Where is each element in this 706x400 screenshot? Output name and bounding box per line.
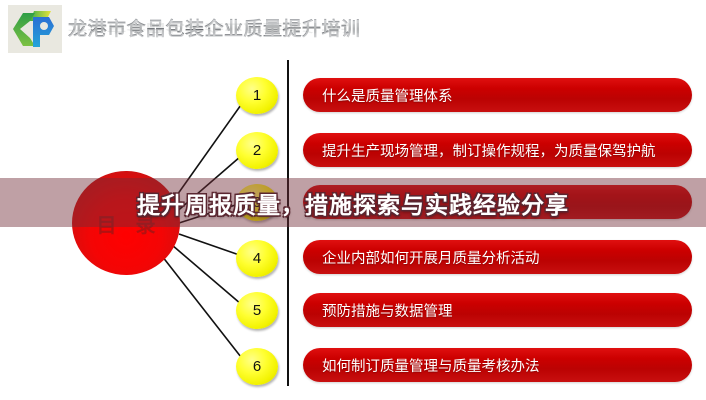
item-bar-label: 什么是质量管理体系 xyxy=(322,78,453,112)
item-bar[interactable]: 如何制订质量管理与质量考核办法 xyxy=(303,348,692,382)
item-bar[interactable]: 提升生产现场管理，制订操作规程，为质量保驾护航 xyxy=(303,133,692,167)
item-bar-label: 提升生产现场管理，制订操作规程，为质量保驾护航 xyxy=(322,133,656,167)
page-title: 龙港市食品包装企业质量提升培训 xyxy=(68,14,361,41)
item-bar[interactable]: 企业内部如何开展月质量分析活动 xyxy=(303,240,692,274)
item-number-label: 6 xyxy=(236,348,278,385)
item-number-badge[interactable]: 4 xyxy=(236,240,278,277)
item-bar[interactable]: 预防措施与数据管理 xyxy=(303,293,692,327)
item-number-badge[interactable]: 2 xyxy=(236,132,278,169)
item-number-label: 2 xyxy=(236,132,278,169)
slide-canvas: 龙港市食品包装企业质量提升培训 龙港市食品包装企业质量提升培训 目 录 1 什么… xyxy=(0,0,706,400)
item-bar-label: 预防措施与数据管理 xyxy=(322,293,453,327)
item-bar-label: 如何制订质量管理与质量考核办法 xyxy=(322,348,540,382)
item-number-label: 1 xyxy=(236,77,278,114)
item-number-badge[interactable]: 1 xyxy=(236,77,278,114)
overlay-banner-text: 提升周报质量，措施探索与实践经验分享 xyxy=(0,178,706,227)
item-bar-label: 企业内部如何开展月质量分析活动 xyxy=(322,240,540,274)
item-number-label: 5 xyxy=(236,292,278,329)
item-number-badge[interactable]: 6 xyxy=(236,348,278,385)
item-number-label: 4 xyxy=(236,240,278,277)
item-bar[interactable]: 什么是质量管理体系 xyxy=(303,78,692,112)
company-hexagon-logo xyxy=(8,5,62,53)
item-number-badge[interactable]: 5 xyxy=(236,292,278,329)
